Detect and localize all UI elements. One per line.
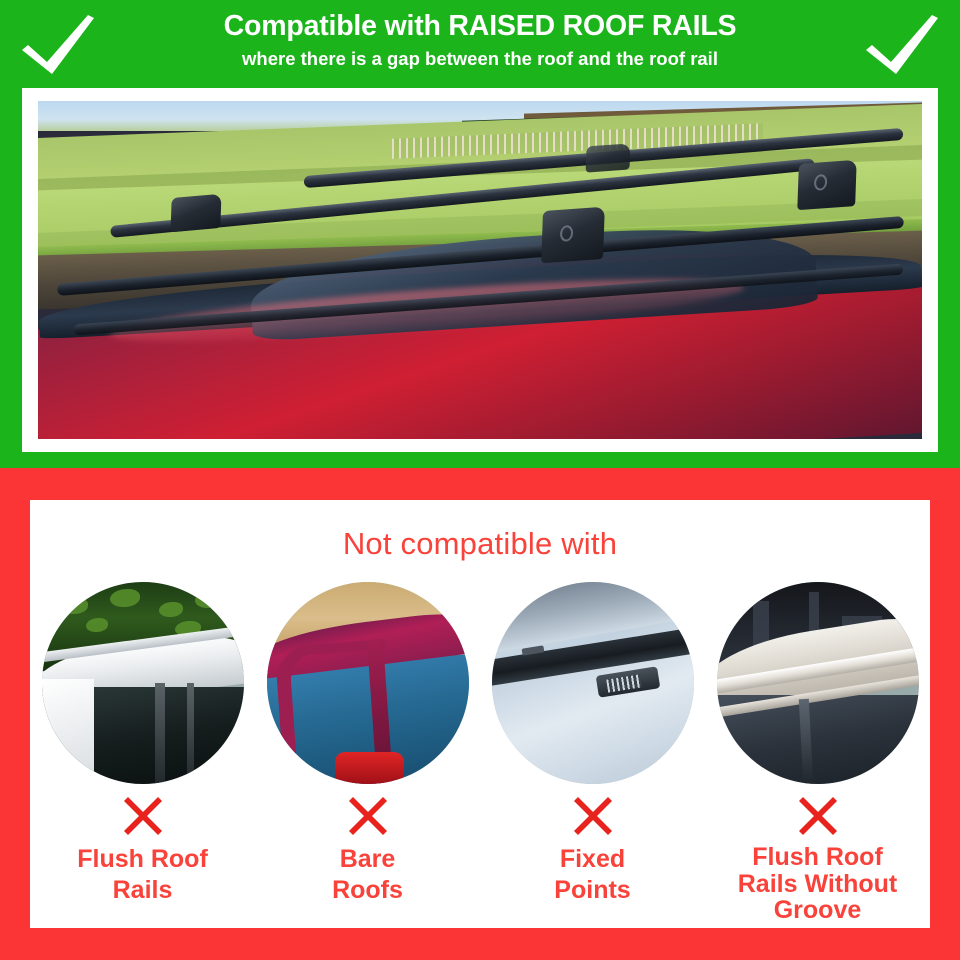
compatible-section: Compatible with RAISED ROOF RAILS where … [0, 0, 960, 468]
list-item: Flush Roof Rails [39, 582, 247, 905]
list-item: Fixed Points [489, 582, 697, 905]
hero-photo-raised-roof-rails [38, 101, 922, 439]
not-compatible-heading: Not compatible with [30, 526, 930, 562]
lock-icon [560, 225, 574, 242]
x-mark-icon [346, 794, 390, 838]
check-mark-icon [860, 12, 944, 78]
door-pillar [187, 683, 194, 784]
list-item-label: Bare Roofs [332, 844, 403, 905]
crossbar-foot [170, 193, 221, 232]
compatible-header: Compatible with RAISED ROOF RAILS where … [0, 0, 960, 88]
list-item-label: Flush Roof Rails [77, 844, 208, 905]
bare-roofs-photo [267, 582, 469, 784]
header-text: Compatible with RAISED ROOF RAILS where … [120, 12, 840, 69]
list-item-label: Fixed Points [554, 844, 630, 905]
check-mark-icon [16, 12, 100, 78]
lock-icon [814, 174, 828, 191]
not-compatible-list: Flush Roof Rails [30, 582, 930, 924]
compatibility-infographic: Compatible with RAISED ROOF RAILS where … [0, 0, 960, 960]
not-compatible-panel: Not compatible with [30, 500, 930, 928]
page-subtitle: where there is a gap between the roof an… [120, 48, 840, 69]
x-mark-icon [121, 794, 165, 838]
door-pillar [155, 683, 165, 784]
flush-roof-rails-without-groove-photo [717, 582, 919, 784]
car-body [42, 679, 95, 784]
flush-roof-rails-photo [42, 582, 244, 784]
crossbar-foot [586, 143, 631, 172]
x-mark-icon [571, 794, 615, 838]
crossbar-foot [541, 207, 605, 264]
not-compatible-section: Not compatible with [0, 468, 960, 960]
list-item: Flush Roof Rails Without Groove [714, 582, 922, 924]
x-mark-icon [796, 794, 840, 838]
list-item-label: Flush Roof Rails Without Groove [738, 844, 898, 924]
brake-light [335, 752, 404, 784]
page-title: Compatible with RAISED ROOF RAILS [120, 12, 840, 42]
crossbar-foot [797, 160, 856, 210]
fixed-points-photo [492, 582, 694, 784]
list-item: Bare Roofs [264, 582, 472, 905]
hero-photo-frame [22, 88, 938, 452]
